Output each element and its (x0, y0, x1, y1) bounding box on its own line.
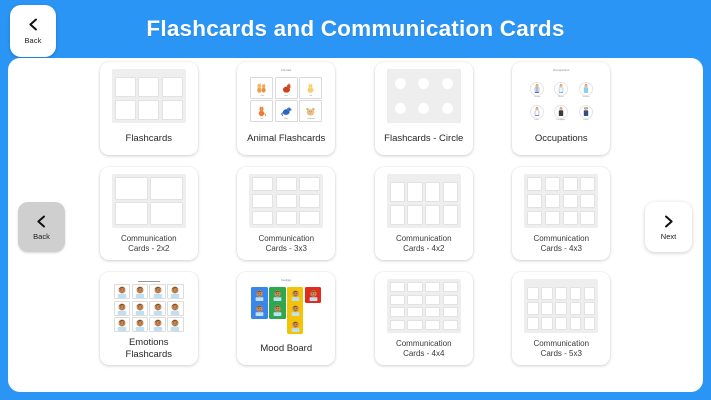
thumb-cell (115, 177, 148, 200)
template-card-label: Communication Cards - 4x2 (377, 230, 471, 260)
template-card-comm-cards-5x3[interactable]: Communication Cards - 5x3 (512, 272, 610, 365)
app-root: Flashcards and Communication Cards Back … (0, 0, 711, 400)
thumb-card-caption: Police (583, 119, 588, 121)
tile-slot: Communication Cards - 3x3 (218, 167, 356, 272)
thumb-emotion-face (149, 317, 166, 332)
thumb-cell (407, 205, 422, 225)
thumb-mood-card (287, 318, 303, 334)
thumb-circle (395, 78, 406, 89)
thumb-cell (580, 177, 595, 191)
template-card-mood-board[interactable]: FeelingsMood Board (237, 272, 335, 365)
thumb-cell (425, 320, 440, 330)
thumb-card-caption: Firefighter (557, 119, 566, 121)
thumb-cell (115, 100, 136, 120)
thumb-cell (299, 177, 320, 191)
template-card-label: Occupations (514, 125, 608, 155)
thumb-emotion-face (132, 301, 149, 316)
thumb-mini-title: Animals (250, 70, 322, 75)
template-thumbnail: OccupationsDoctorNurseTeacherChefFirefig… (521, 67, 601, 125)
thumb-mini-title (114, 280, 184, 282)
card-template-grid: FlashcardsAnimalsCatsHenCatCatBirdHamste… (80, 62, 630, 392)
thumb-emotion-face (114, 284, 131, 299)
thumb-mood-card (305, 287, 321, 303)
template-card-label: Emotions Flashcards (102, 335, 196, 365)
thumb-cell (390, 282, 405, 292)
thumb-cell (541, 287, 553, 300)
pager-next-button[interactable]: Next (645, 202, 692, 252)
tile-slot: Communication Cards - 2x2 (80, 167, 218, 272)
template-card-flashcards[interactable]: Flashcards (100, 62, 198, 155)
thumb-grid-4x4 (387, 279, 461, 333)
template-card-label: Flashcards - Circle (377, 125, 471, 155)
hen-icon (280, 82, 293, 95)
thumb-circle (442, 103, 453, 114)
thumb-card-caption: Hen (284, 95, 288, 97)
template-thumbnail (384, 172, 464, 230)
template-card-occupations[interactable]: OccupationsDoctorNurseTeacherChefFirefig… (512, 62, 610, 155)
thumb-emotion-face (114, 301, 131, 316)
template-card-label: Communication Cards - 4x4 (377, 335, 471, 365)
thumb-cell (252, 177, 273, 191)
thumb-mini-title: Occupations (525, 70, 597, 75)
template-card-label: Communication Cards - 5x3 (514, 335, 608, 365)
thumb-cell (443, 282, 458, 292)
thumb-cell (390, 205, 405, 225)
tile-slot: Flashcards - Circle (355, 62, 493, 167)
header-bar: Flashcards and Communication Cards Back (0, 0, 711, 58)
thumb-cell (276, 194, 297, 208)
thumb-cell (555, 317, 567, 330)
thumb-cell (437, 97, 458, 120)
thumb-card-teacher: Teacher (574, 77, 597, 99)
template-card-comm-cards-4x2[interactable]: Communication Cards - 4x2 (375, 167, 473, 260)
thumb-cell (407, 320, 422, 330)
thumb-card-hamster: Hamster (299, 100, 322, 122)
thumb-cell (407, 282, 422, 292)
thumb-circle (442, 78, 453, 89)
thumb-emotion-face (167, 284, 184, 299)
thumb-cell (443, 182, 458, 202)
thumb-cell (425, 307, 440, 317)
pager-back-button[interactable]: Back (18, 202, 65, 252)
thumb-card-cats: Cats (250, 77, 273, 99)
thumb-cell (527, 317, 539, 330)
thumb-grid-5x3 (524, 279, 598, 333)
pager-back-label: Back (33, 232, 50, 241)
thumb-cell (407, 307, 422, 317)
thumb-card-police: Police (574, 100, 597, 122)
chef-icon (530, 105, 544, 119)
template-thumbnail (109, 172, 189, 230)
template-card-animal-flashcards[interactable]: AnimalsCatsHenCatCatBirdHamsterAnimal Fl… (237, 62, 335, 155)
tile-slot: Communication Cards - 4x3 (493, 167, 631, 272)
thumb-grid-4x3 (524, 174, 598, 228)
thumb-card-doctor: Doctor (525, 77, 548, 99)
thumb-circle (418, 103, 429, 114)
cat-icon (255, 105, 268, 118)
thumb-cell (541, 302, 553, 315)
thumb-mood-empty (251, 318, 267, 334)
thumb-cell (276, 211, 297, 225)
thumb-cell (563, 177, 578, 191)
tile-slot: Flashcards (80, 62, 218, 167)
thumb-cell (407, 182, 422, 202)
chevron-left-icon (34, 214, 49, 229)
thumb-mood-card (251, 287, 267, 303)
thumb-card-kitten: Cat (299, 77, 322, 99)
tile-slot: Emotions Flashcards (80, 272, 218, 377)
template-thumbnail: Feelings (246, 277, 326, 335)
template-thumbnail (109, 277, 189, 335)
thumb-card-caption: Cats (260, 95, 264, 97)
template-card-label: Communication Cards - 2x2 (102, 230, 196, 260)
thumb-emotion-face (132, 317, 149, 332)
thumb-emotion-face (114, 317, 131, 332)
thumb-card-caption: Doctor (534, 96, 540, 98)
thumb-grid-3x3 (249, 174, 323, 228)
thumb-cell (443, 205, 458, 225)
thumb-mood-card (287, 302, 303, 318)
thumb-cell (138, 100, 159, 120)
thumb-cell (299, 194, 320, 208)
thumb-cell (570, 287, 582, 300)
thumb-mini-title: Feelings (251, 280, 321, 285)
template-thumbnail (384, 277, 464, 335)
tile-slot: Communication Cards - 4x2 (355, 167, 493, 272)
thumb-cell (390, 320, 405, 330)
template-card-comm-cards-3x3[interactable]: Communication Cards - 3x3 (237, 167, 335, 260)
thumb-grid-4x2 (387, 174, 461, 228)
thumb-cell (527, 287, 539, 300)
thumb-cell (527, 302, 539, 315)
tile-slot: AnimalsCatsHenCatCatBirdHamsterAnimal Fl… (218, 62, 356, 167)
template-card-comm-cards-2x2[interactable]: Communication Cards - 2x2 (100, 167, 198, 260)
thumb-circle-grid (387, 69, 461, 123)
thumb-cell (413, 97, 434, 120)
thumb-cell (276, 177, 297, 191)
tile-slot: FeelingsMood Board (218, 272, 356, 377)
thumb-card-cat: Cat (250, 100, 273, 122)
thumb-cell (584, 317, 596, 330)
thumb-cell (437, 72, 458, 95)
firefighter-icon (554, 105, 568, 119)
tile-slot: Communication Cards - 4x4 (355, 272, 493, 377)
thumb-card-caption: Teacher (582, 96, 589, 98)
thumb-card-caption: Cat (309, 95, 312, 97)
thumb-cell (580, 211, 595, 225)
thumb-cell (390, 182, 405, 202)
thumb-cell (425, 295, 440, 305)
thumb-card-nurse: Nurse (550, 77, 573, 99)
thumb-cell (563, 194, 578, 208)
template-card-label: Communication Cards - 3x3 (239, 230, 333, 260)
thumb-cell (252, 194, 273, 208)
template-card-label: Animal Flashcards (239, 125, 333, 155)
hamster-icon (304, 105, 317, 118)
thumb-card-caption: Nurse (559, 96, 564, 98)
thumb-cell (390, 72, 411, 95)
chevron-right-icon (661, 214, 676, 229)
thumb-card-caption: Hamster (307, 118, 314, 120)
thumb-cell (555, 302, 567, 315)
template-card-label: Communication Cards - 4x3 (514, 230, 608, 260)
template-thumbnail (521, 277, 601, 335)
thumb-cell (138, 77, 159, 97)
template-card-comm-cards-4x4[interactable]: Communication Cards - 4x4 (375, 272, 473, 365)
thumb-cell (584, 302, 596, 315)
thumb-cell (150, 177, 183, 200)
tile-slot: Communication Cards - 5x3 (493, 272, 631, 377)
teacher-icon (579, 82, 593, 96)
thumb-mood-empty (305, 318, 321, 334)
thumb-emotions-grid (112, 279, 186, 333)
thumb-cell (527, 177, 542, 191)
thumb-card-firefighter: Firefighter (550, 100, 573, 122)
page-title: Flashcards and Communication Cards (0, 0, 711, 58)
thumb-mood-card (251, 302, 267, 318)
template-thumbnail (246, 172, 326, 230)
thumb-cell (390, 307, 405, 317)
thumb-cell (413, 72, 434, 95)
police-icon (579, 105, 593, 119)
thumb-cell (162, 100, 183, 120)
bird-icon (280, 105, 293, 118)
thumb-animals-grid: AnimalsCatsHenCatCatBirdHamster (249, 69, 323, 123)
thumb-cell (580, 194, 595, 208)
thumb-card-hen: Hen (275, 77, 298, 99)
thumb-emotion-face (149, 301, 166, 316)
thumb-grid-2x2 (112, 174, 186, 228)
thumb-cell (545, 211, 560, 225)
thumb-cell (527, 211, 542, 225)
thumb-mood-card (269, 302, 285, 318)
tile-slot: OccupationsDoctorNurseTeacherChefFirefig… (493, 62, 631, 167)
thumb-cell (443, 295, 458, 305)
thumb-card-bird: Bird (275, 100, 298, 122)
thumb-mood-empty (305, 302, 321, 318)
header-back-label: Back (24, 36, 41, 45)
template-card-emotions-flashcards[interactable]: Emotions Flashcards (100, 272, 198, 365)
template-thumbnail: AnimalsCatsHenCatCatBirdHamster (246, 67, 326, 125)
thumb-cell (570, 302, 582, 315)
thumb-mood-grid: Feelings (249, 279, 323, 333)
thumb-cell (443, 320, 458, 330)
template-thumbnail (109, 67, 189, 125)
chevron-left-icon (26, 17, 41, 32)
template-card-label: Flashcards (102, 125, 196, 155)
thumb-card-chef: Chef (525, 100, 548, 122)
thumb-cell (527, 194, 542, 208)
thumb-cell (252, 211, 273, 225)
thumb-cell (115, 202, 148, 225)
thumb-mood-card (287, 287, 303, 303)
thumb-emotion-face (132, 284, 149, 299)
thumb-cell (425, 282, 440, 292)
thumb-card-caption: Chef (535, 119, 539, 121)
thumb-circle (418, 78, 429, 89)
thumb-cell (555, 287, 567, 300)
header-back-button[interactable]: Back (10, 5, 56, 57)
thumb-emotion-face (149, 284, 166, 299)
template-card-flashcards-circle[interactable]: Flashcards - Circle (375, 62, 473, 155)
thumb-cell (545, 194, 560, 208)
thumb-cell (541, 317, 553, 330)
thumb-card-caption: Cat (260, 118, 263, 120)
thumb-emotion-face (167, 317, 184, 332)
thumb-cell (425, 205, 440, 225)
thumb-mood-card (269, 287, 285, 303)
nurse-icon (554, 82, 568, 96)
doctor-icon (530, 82, 544, 96)
template-card-comm-cards-4x3[interactable]: Communication Cards - 4x3 (512, 167, 610, 260)
thumb-cell (443, 307, 458, 317)
pager-next-label: Next (661, 232, 676, 241)
thumb-card-caption: Bird (284, 118, 288, 120)
thumb-cell (570, 317, 582, 330)
thumb-occupations-grid: OccupationsDoctorNurseTeacherChefFirefig… (524, 69, 598, 123)
thumb-cell (115, 77, 136, 97)
thumb-cell (425, 182, 440, 202)
thumb-cell (162, 77, 183, 97)
template-card-label: Mood Board (239, 335, 333, 365)
thumb-emotion-face (167, 301, 184, 316)
thumb-cell (584, 287, 596, 300)
thumb-cell (407, 295, 422, 305)
thumb-cell (390, 295, 405, 305)
template-thumbnail (384, 67, 464, 125)
thumb-cell (390, 97, 411, 120)
thumb-cell (299, 211, 320, 225)
thumb-cell (563, 211, 578, 225)
kitten-icon (304, 82, 317, 95)
thumb-cell (545, 177, 560, 191)
template-thumbnail (521, 172, 601, 230)
thumb-mood-empty (269, 318, 285, 334)
thumb-cell (150, 202, 183, 225)
cats-icon (255, 82, 268, 95)
thumb-circle (395, 103, 406, 114)
thumb-grid-3x2 (112, 69, 186, 123)
